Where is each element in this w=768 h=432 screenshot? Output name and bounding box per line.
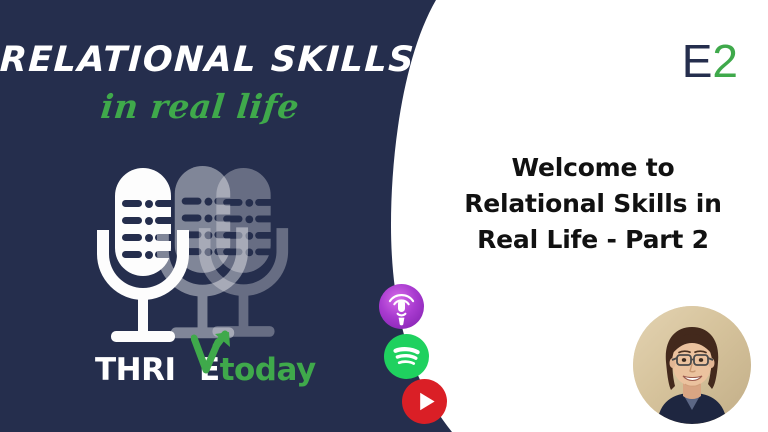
spotify-icon[interactable] (384, 334, 429, 379)
episode-badge-prefix: E (682, 35, 713, 87)
headline-line-3: Real Life - Part 2 (432, 222, 754, 258)
thrivetoday-logo: THRIVEtoday (95, 352, 295, 396)
logo-text-thri: THRI (95, 352, 176, 388)
headline-line-2: Relational Skills in (432, 186, 754, 222)
headline-line-1: Welcome to (432, 150, 754, 186)
episode-badge: E2 (682, 38, 738, 84)
youtube-icon[interactable] (402, 379, 447, 424)
logo-text-today: today (220, 352, 316, 388)
host-avatar (633, 306, 751, 424)
podcast-episode-thumbnail: RELATIONAL SKILLS in real life (0, 0, 768, 432)
episode-badge-number: 2 (712, 35, 738, 87)
apple-podcasts-icon[interactable] (379, 284, 424, 329)
episode-headline: Welcome to Relational Skills in Real Lif… (432, 150, 754, 258)
